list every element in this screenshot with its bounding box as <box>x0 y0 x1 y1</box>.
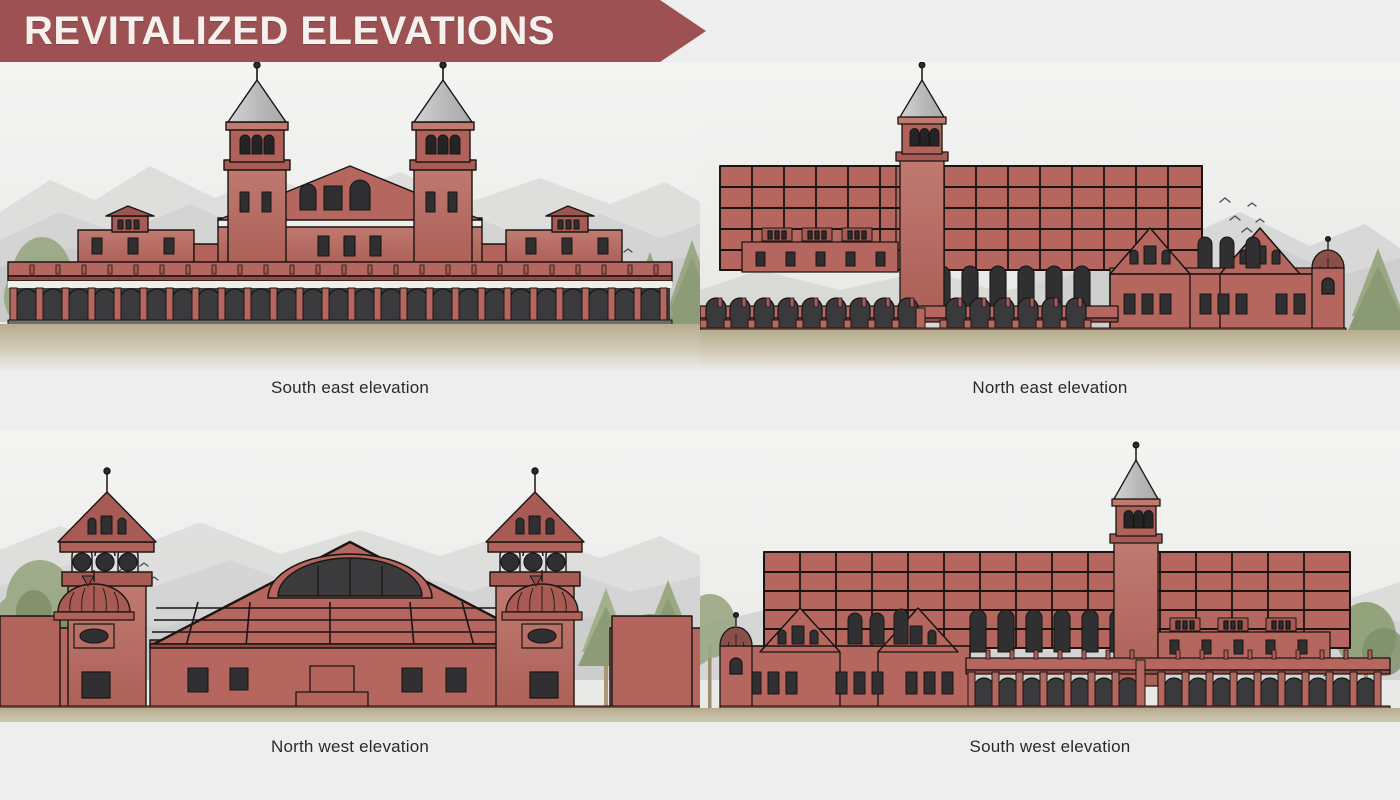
ground-band <box>700 330 1400 372</box>
elevation-panel-south-east <box>0 62 700 372</box>
ground-band <box>700 708 1400 722</box>
presentation-board: REVITALIZED ELEVATIONS <box>0 0 1400 800</box>
caption-north-west: North west elevation <box>0 737 700 757</box>
arcade <box>8 262 672 326</box>
elevation-panel-north-west <box>0 430 700 722</box>
title-banner: REVITALIZED ELEVATIONS <box>0 0 720 62</box>
arcade <box>966 650 1390 710</box>
caption-south-west: South west elevation <box>700 737 1400 757</box>
ground-band <box>0 324 700 372</box>
page-title: REVITALIZED ELEVATIONS <box>24 4 555 58</box>
elevation-panel-north-east <box>700 62 1400 372</box>
ground-band <box>0 708 700 722</box>
elevation-panel-south-west <box>700 430 1400 722</box>
caption-north-east: North east elevation <box>700 378 1400 398</box>
caption-south-east: South east elevation <box>0 378 700 398</box>
